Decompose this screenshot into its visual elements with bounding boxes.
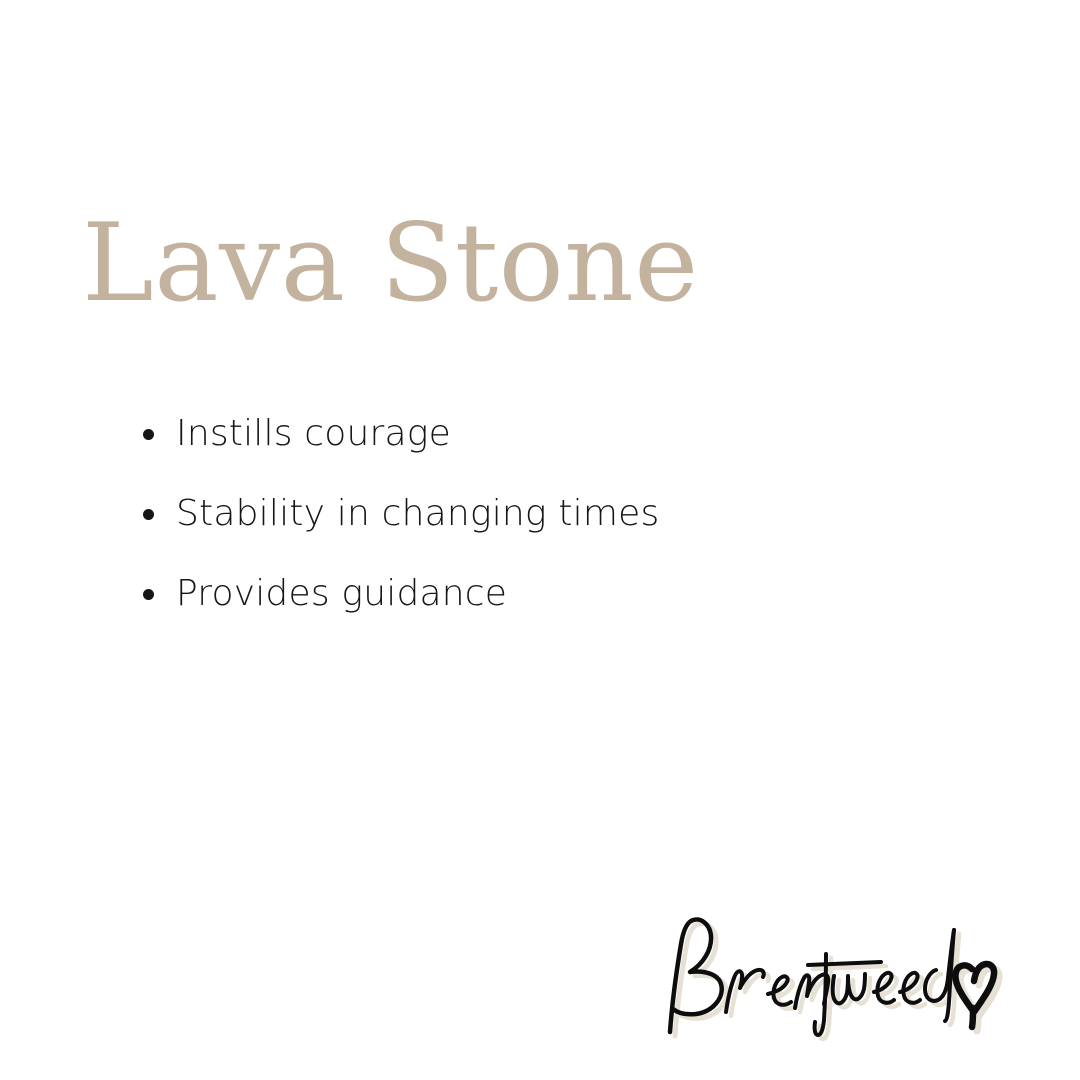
brentwood-signature-icon: [648, 908, 1008, 1048]
bullet-dot-icon: [143, 589, 154, 600]
signature-ink-layer: [670, 919, 994, 1035]
page-title: Lava Stone: [82, 210, 699, 318]
list-item: Stability in changing times: [140, 486, 659, 566]
list-item: Instills courage: [140, 406, 659, 486]
list-item: Provides guidance: [140, 566, 659, 646]
bullet-dot-icon: [143, 509, 154, 520]
benefits-list: Instills courage Stability in changing t…: [140, 406, 659, 646]
list-item-label: Provides guidance: [176, 573, 507, 614]
bullet-dot-icon: [143, 429, 154, 440]
brand-signature: [648, 908, 1008, 1048]
list-item-label: Stability in changing times: [176, 493, 659, 534]
slide-canvas: Lava Stone Instills courage Stability in…: [0, 0, 1080, 1080]
list-item-label: Instills courage: [176, 413, 451, 454]
